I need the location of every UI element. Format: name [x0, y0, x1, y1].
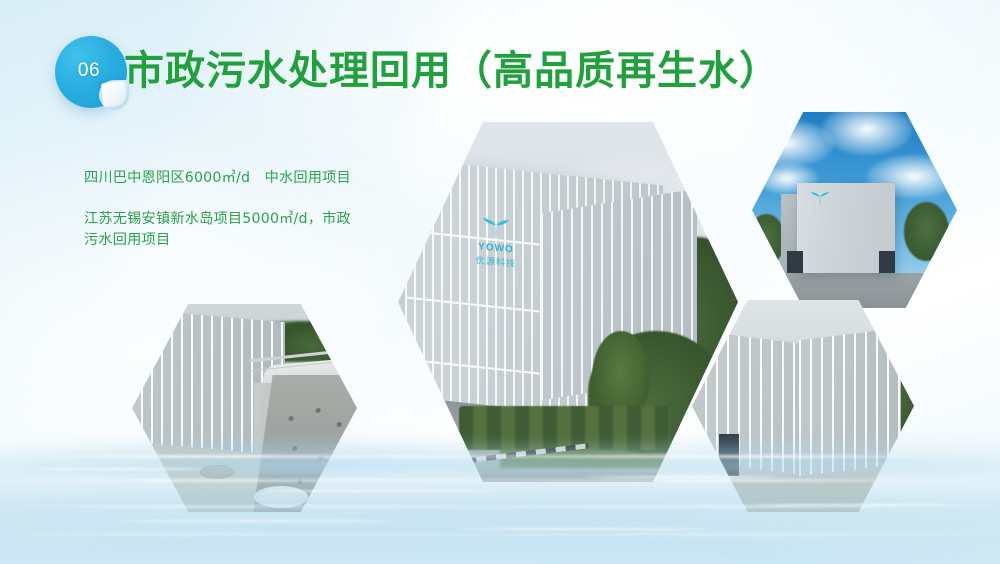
section-number-badge: 06 — [55, 36, 127, 108]
photo-door — [879, 251, 895, 273]
photo-hex-bottom-left — [132, 304, 357, 512]
photo-hedge — [459, 406, 670, 449]
photo-rendered-cube-building — [752, 112, 957, 308]
photo-facade-slats — [799, 328, 901, 476]
photo-treatment-facility — [132, 304, 357, 512]
photo-door — [719, 434, 739, 476]
photo-equipment-room — [692, 300, 914, 512]
page-title: 市政污水处理回用（高品质再生水） — [124, 38, 780, 96]
slide-canvas: 06 市政污水处理回用（高品质再生水） 四川巴中恩阳区6000㎥/d 中水回用项… — [0, 0, 1000, 564]
photo-hex-main: YOWO 优源科技 — [398, 122, 738, 482]
badge-number-text: 06 — [55, 36, 127, 108]
caption-block: 四川巴中恩阳区6000㎥/d 中水回用项目 江苏无锡安镇新水岛项目5000㎥/d… — [84, 168, 354, 251]
photo-ground — [692, 474, 914, 512]
wave-line — [0, 533, 1000, 536]
sprout-icon — [481, 214, 511, 243]
yowo-logo: YOWO 优源科技 — [466, 213, 526, 270]
photo-facade-right — [799, 328, 901, 476]
caption-line-1: 四川巴中恩阳区6000㎥/d 中水回用项目 — [84, 168, 354, 189]
caption-line-2: 江苏无锡安镇新水岛项目5000㎥/d，市政污水回用项目 — [84, 209, 354, 251]
photo-hex-bottom-right — [692, 300, 914, 512]
photo-white-basin — [254, 486, 308, 508]
photo-manhole — [200, 465, 234, 479]
photo-main-plant-building: YOWO 优源科技 — [398, 122, 738, 482]
photo-hex-top-right — [752, 112, 957, 308]
photo-door — [787, 251, 803, 273]
photo-tree — [904, 202, 949, 261]
photo-cloud — [822, 112, 912, 155]
sprout-icon — [809, 190, 831, 208]
